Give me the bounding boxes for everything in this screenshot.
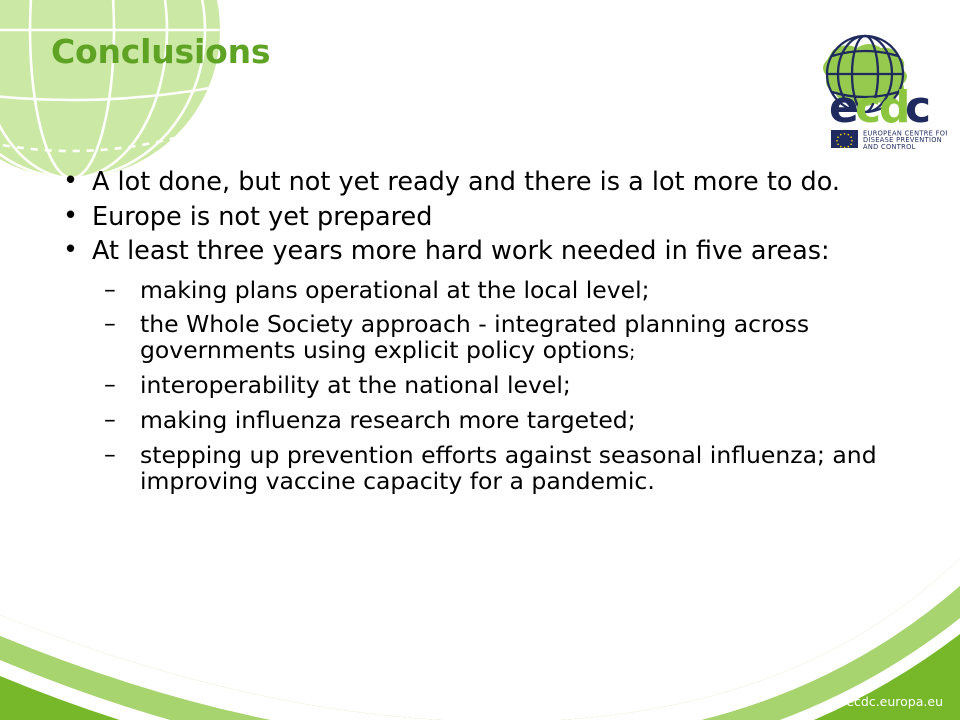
slide-body: • A lot done, but not yet ready and ther…	[57, 168, 893, 504]
bullet-text: At least three years more hard work need…	[92, 236, 830, 266]
sub-bullet-marker: –	[104, 407, 116, 433]
logo-wordmark: e c d c	[829, 82, 931, 133]
footer-decoration	[0, 530, 960, 720]
sub-bullet-text: interoperability at the national level;	[140, 371, 571, 399]
sub-bullet-text-tail: ;	[629, 342, 635, 363]
sub-bullet-text: making influenza research more targeted;	[140, 406, 636, 434]
svg-text:c: c	[905, 82, 931, 133]
sub-bullet-marker: –	[104, 311, 116, 337]
footer-url: ecdc.europa.eu	[846, 694, 943, 709]
bullet-text: A lot done, but not yet ready and there …	[92, 167, 840, 197]
sub-bullet-marker: –	[104, 442, 116, 468]
tagline-line-3: AND CONTROL	[863, 143, 916, 151]
sub-bullet-item: – the Whole Society approach - integrate…	[57, 312, 893, 364]
sub-bullet-marker: –	[104, 277, 116, 303]
bullet-marker: •	[63, 202, 78, 231]
sub-bullet-item: – making influenza research more targete…	[57, 408, 893, 434]
sub-bullet-item: – making plans operational at the local …	[57, 278, 893, 304]
bullet-marker: •	[63, 236, 78, 265]
logo-tagline: EUROPEAN CENTRE FOR DISEASE PREVENTION A…	[863, 130, 947, 151]
sub-bullet-text: making plans operational at the local le…	[140, 276, 650, 304]
bullet-item: • A lot done, but not yet ready and ther…	[57, 168, 893, 197]
sub-bullet-item: – interoperability at the national level…	[57, 373, 893, 399]
svg-text:c: c	[855, 82, 881, 133]
bullet-item: • At least three years more hard work ne…	[57, 237, 893, 266]
bullet-text: Europe is not yet prepared	[92, 202, 432, 232]
sub-bullet-text: stepping up prevention efforts against s…	[140, 441, 877, 495]
globe-decoration-icon	[0, 0, 222, 180]
eu-flag-icon	[831, 130, 858, 148]
sub-bullet-marker: –	[104, 372, 116, 398]
bullet-item: • Europe is not yet prepared	[57, 203, 893, 232]
sub-bullet-item: – stepping up prevention efforts against…	[57, 443, 893, 495]
slide-canvas: Conclusions e c d c	[0, 0, 960, 720]
sub-bullet-text: the Whole Society approach - integrated …	[140, 310, 809, 364]
slide-title: Conclusions	[51, 32, 270, 71]
bullet-marker: •	[63, 167, 78, 196]
ecdc-logo: e c d c EUROPEAN	[795, 26, 947, 154]
